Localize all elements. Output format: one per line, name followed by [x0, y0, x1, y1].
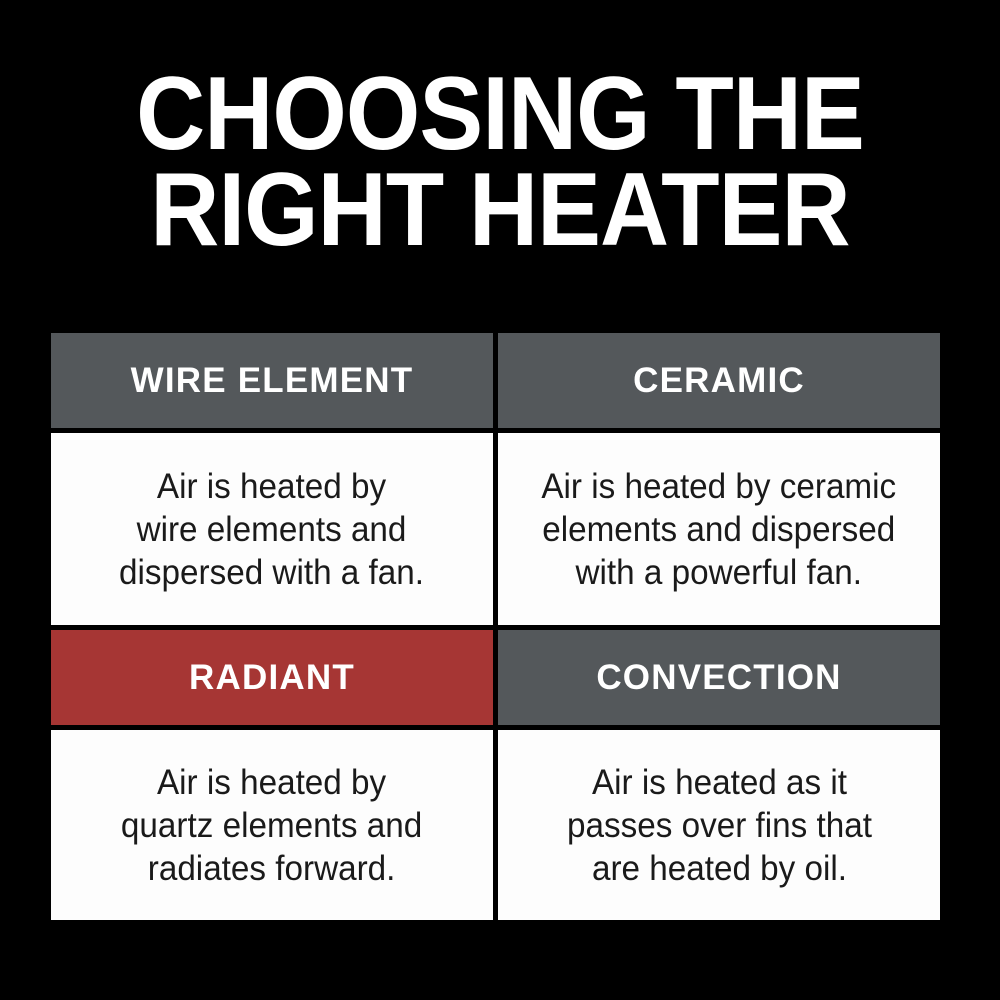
table-cell-text: Air is heated as it passes over fins tha… [567, 761, 872, 890]
table-header-wire-element: WIRE ELEMENT [51, 333, 493, 428]
table-cell-radiant: Air is heated by quartz elements and rad… [51, 730, 493, 920]
table-header-convection: CONVECTION [498, 630, 940, 725]
table-header-ceramic: CERAMIC [498, 333, 940, 428]
page-title-line-2: RIGHT HEATER [40, 162, 960, 258]
table-cell-text: Air is heated by wire elements and dispe… [120, 465, 425, 594]
page-title: CHOOSING THE RIGHT HEATER [0, 66, 1000, 258]
table-cell-ceramic: Air is heated by ceramic elements and di… [498, 433, 940, 625]
table-cell-wire-element: Air is heated by wire elements and dispe… [51, 433, 493, 625]
table-cell-convection: Air is heated as it passes over fins tha… [498, 730, 940, 920]
page-title-line-1: CHOOSING THE [40, 66, 960, 162]
heater-comparison-table: WIRE ELEMENT CERAMIC Air is heated by wi… [51, 333, 940, 905]
table-header-label: CERAMIC [633, 362, 805, 400]
table-header-label: RADIANT [189, 659, 355, 697]
table-cell-text: Air is heated by ceramic elements and di… [542, 465, 897, 594]
table-header-radiant: RADIANT [51, 630, 493, 725]
table-header-label: CONVECTION [596, 659, 841, 697]
infographic-root: CHOOSING THE RIGHT HEATER WIRE ELEMENT C… [0, 0, 1000, 1000]
table-cell-text: Air is heated by quartz elements and rad… [121, 761, 422, 890]
table-header-label: WIRE ELEMENT [131, 362, 414, 400]
